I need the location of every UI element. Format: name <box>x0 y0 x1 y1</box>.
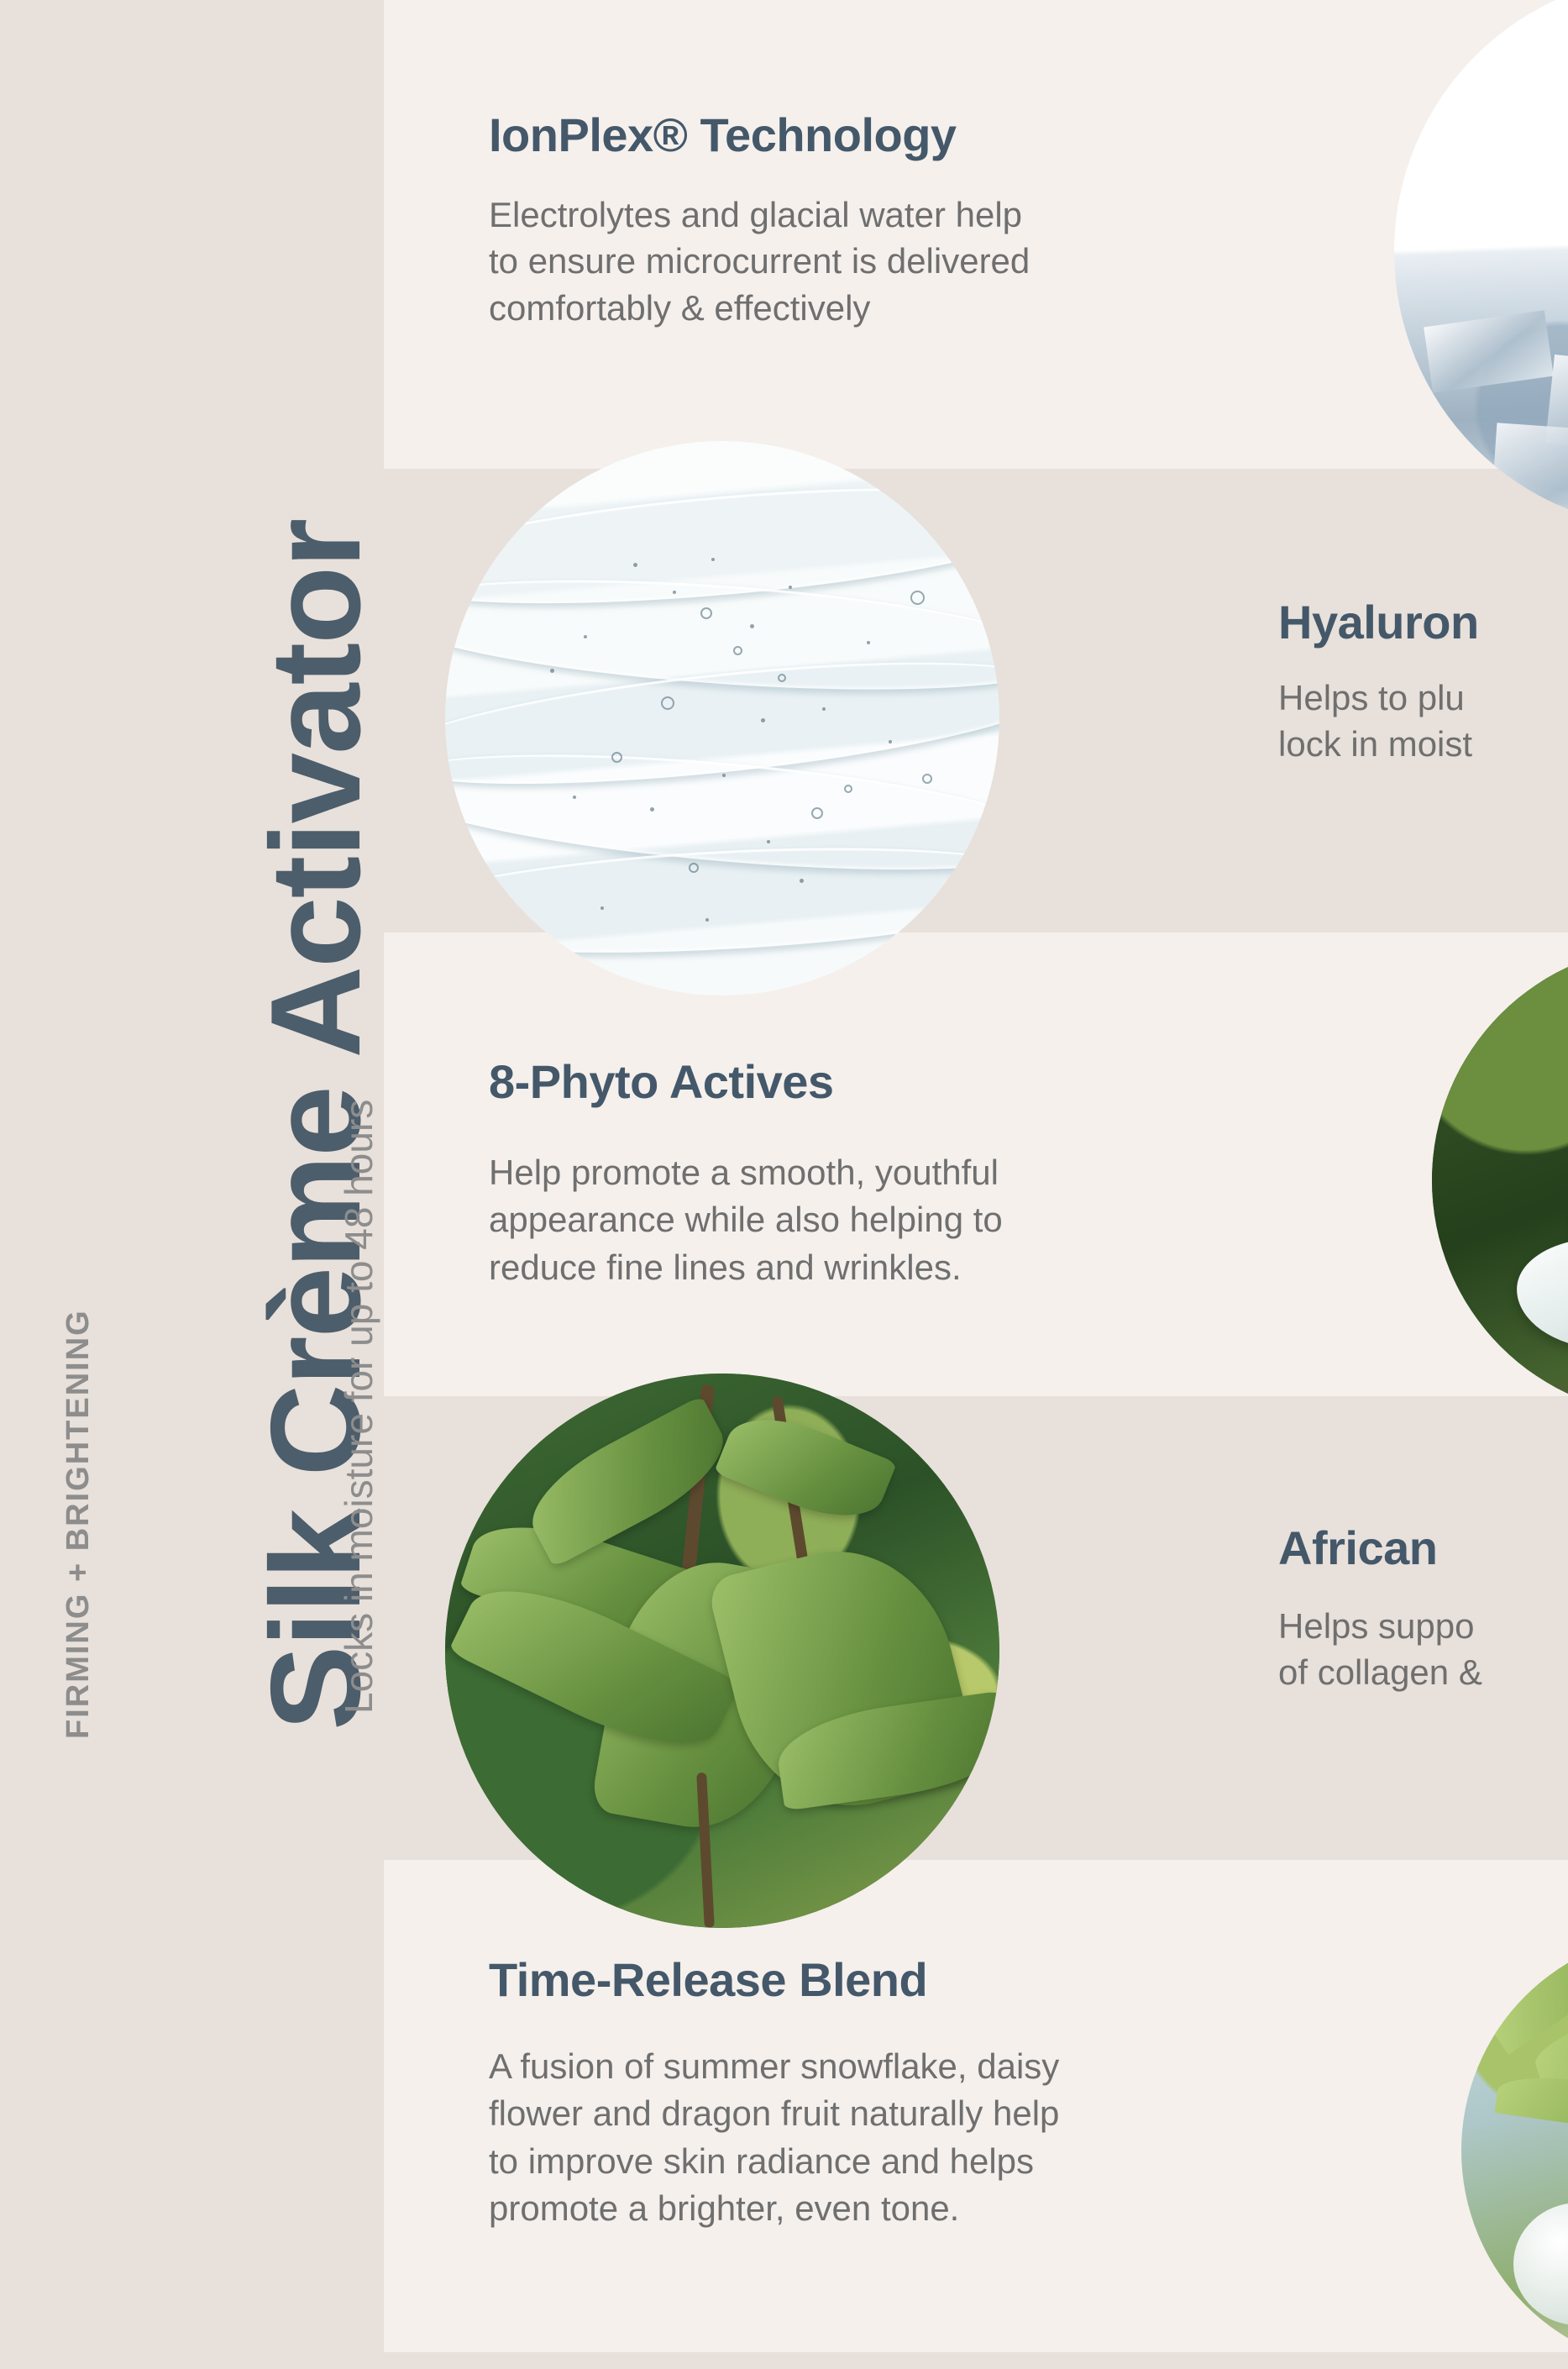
title-rail: FIRMING + BRIGHTENING Silk Crème Activat… <box>0 0 384 2352</box>
card-heading: 8-Phyto Actives <box>489 1054 834 1109</box>
card-body-line: lock in moist <box>1278 721 1472 767</box>
card-body-line: of collagen & <box>1278 1649 1482 1695</box>
green-leaves-image <box>445 1374 999 1928</box>
card-heading: IonPlex® Technology <box>489 108 957 162</box>
gel-texture-image <box>445 441 999 995</box>
ingredient-card-ionplex: IonPlex® Technology Electrolytes and gla… <box>384 0 1568 469</box>
ingredient-card-time-release: Time-Release Blend A fusion of summer sn… <box>384 1860 1568 2352</box>
product-subnote: Locks in moisture for up to 48 hours <box>336 1100 381 1714</box>
card-body-line: appearance while also helping to <box>489 1196 1003 1243</box>
card-body: A fusion of summer snowflake, daisy flow… <box>489 2043 1059 2232</box>
card-body-line: Electrolytes and glacial water help <box>489 192 1030 238</box>
snow-fungus-image <box>1432 945 1568 1416</box>
botanical-image <box>1461 1932 1568 2369</box>
card-body: Helps suppo of collagen & <box>1278 1603 1482 1696</box>
card-body-line: Help promote a smooth, youthful <box>489 1149 1003 1196</box>
card-body: Helps to plu lock in moist <box>1278 675 1472 768</box>
card-body-line: flower and dragon fruit naturally help <box>489 2090 1059 2137</box>
card-body-line: promote a brighter, even tone. <box>489 2185 1059 2232</box>
card-body-line: to improve skin radiance and helps <box>489 2138 1059 2185</box>
ingredient-card-phyto-actives: 8-Phyto Actives Help promote a smooth, y… <box>384 932 1568 1396</box>
card-body-line: reduce fine lines and wrinkles. <box>489 1244 1003 1291</box>
card-body-line: A fusion of summer snowflake, daisy <box>489 2043 1059 2090</box>
card-body-line: to ensure microcurrent is delivered <box>489 238 1030 284</box>
card-body: Electrolytes and glacial water help to e… <box>489 192 1030 331</box>
card-heading: Time-Release Blend <box>489 1952 927 2007</box>
card-body: Help promote a smooth, youthful appearan… <box>489 1149 1003 1291</box>
glacial-ice-image <box>1394 0 1568 529</box>
card-body-line: Helps to plu <box>1278 675 1472 721</box>
card-heading: African <box>1278 1521 1437 1575</box>
card-body-line: comfortably & effectively <box>489 285 1030 331</box>
card-heading: Hyaluron <box>1278 595 1479 649</box>
card-body-line: Helps suppo <box>1278 1603 1482 1649</box>
product-kicker: FIRMING + BRIGHTENING <box>60 1309 97 1739</box>
